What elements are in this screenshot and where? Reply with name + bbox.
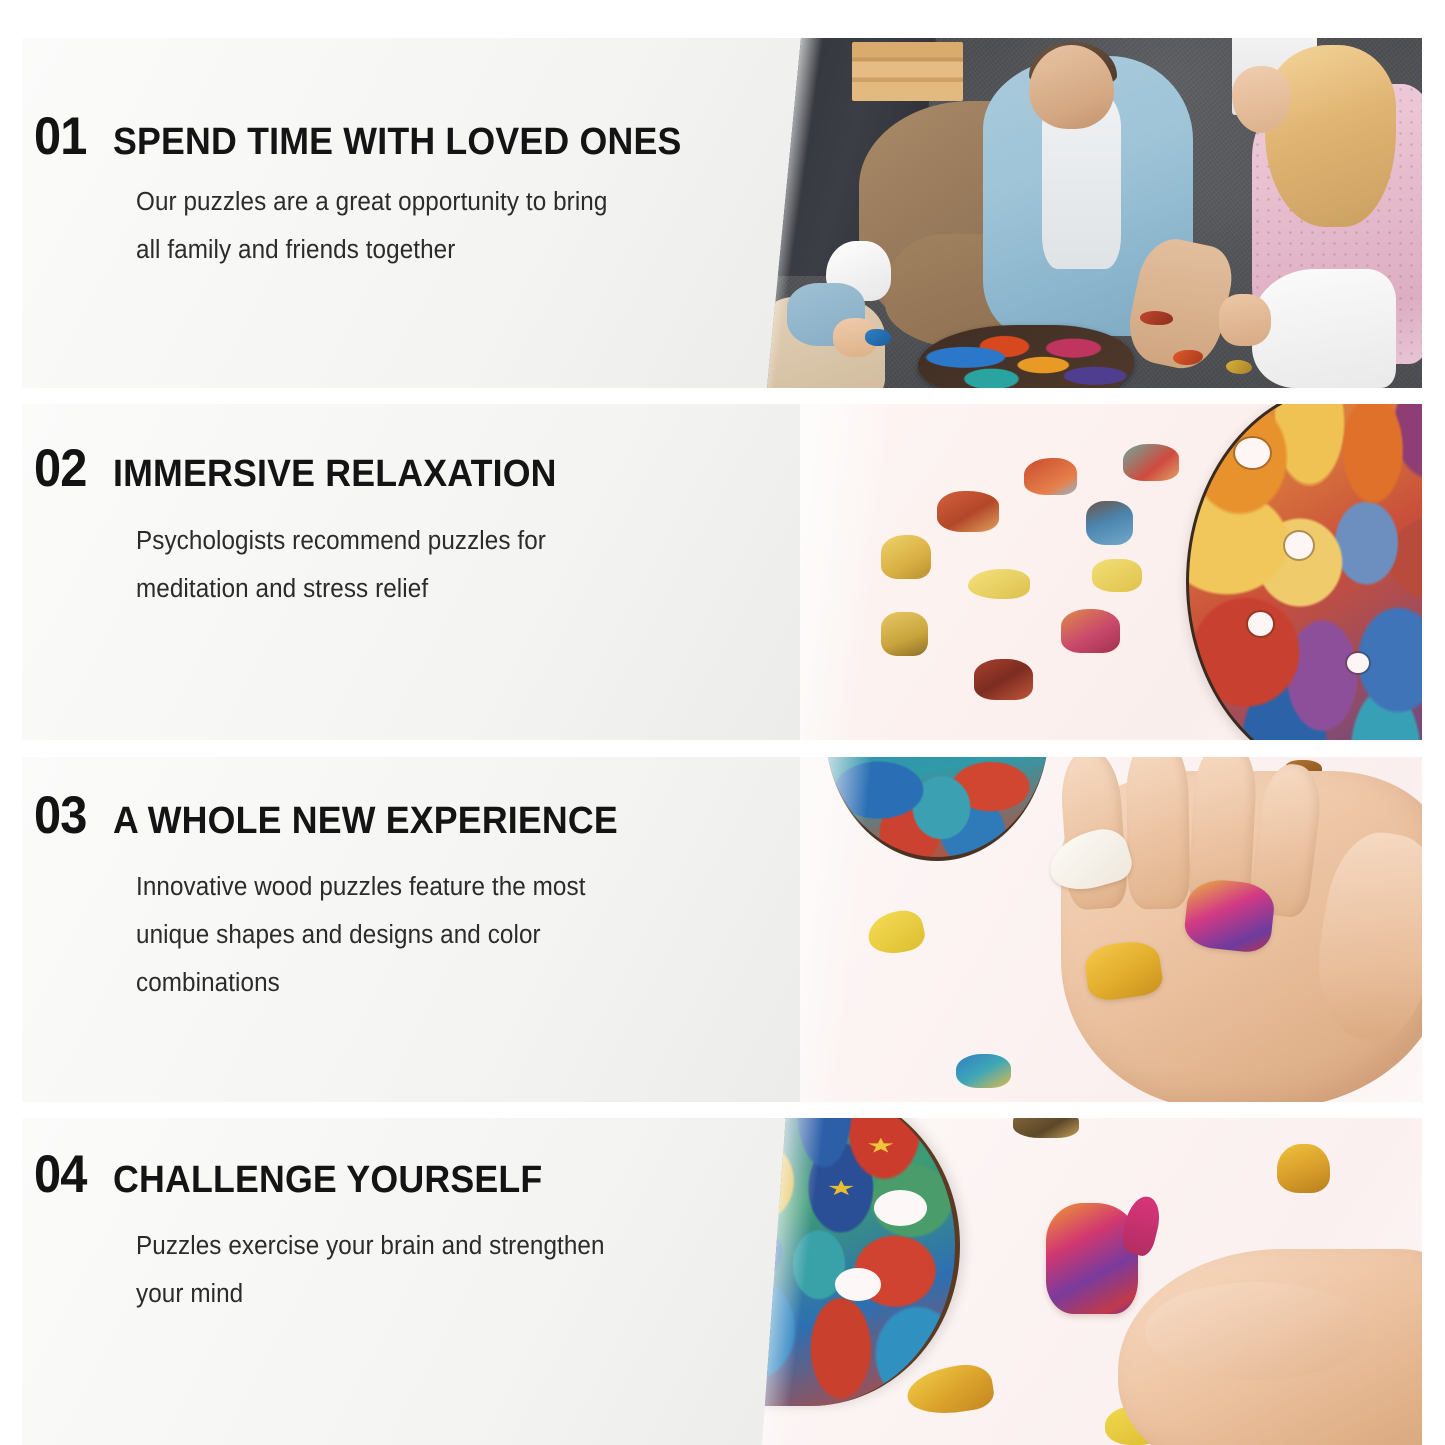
benefit-card-04: 04 CHALLENGE YOURSELF Puzzles exercise y…: [22, 1118, 1422, 1445]
benefit-body-line: all family and friends together: [136, 226, 744, 274]
benefit-heading-row-02: 02 IMMERSIVE RELAXATION: [34, 442, 585, 495]
benefit-card-01: 01 SPEND TIME WITH LOVED ONES Our puzzle…: [22, 38, 1422, 388]
benefit-body-line: Psychologists recommend puzzles for: [136, 517, 744, 565]
benefit-text-01: 01 SPEND TIME WITH LOVED ONES Our puzzle…: [22, 38, 812, 388]
benefit-photo-04: [762, 1118, 1422, 1445]
photo-scene-scattered-pieces: [800, 404, 1422, 740]
benefit-photo-01: [767, 38, 1422, 388]
photo-scene-palm-pieces: [800, 757, 1422, 1102]
benefit-text-04: 04 CHALLENGE YOURSELF Puzzles exercise y…: [22, 1118, 812, 1445]
benefit-text-02: 02 IMMERSIVE RELAXATION Psychologists re…: [22, 404, 812, 740]
benefit-body-line: Puzzles exercise your brain and strength…: [136, 1222, 744, 1270]
benefits-infographic: 01 SPEND TIME WITH LOVED ONES Our puzzle…: [0, 0, 1445, 1445]
benefit-body-line: unique shapes and designs and color: [136, 911, 744, 959]
benefit-number-03: 03: [34, 789, 86, 842]
benefit-body-03: Innovative wood puzzles feature the most…: [136, 863, 744, 1007]
benefit-heading-row-01: 01 SPEND TIME WITH LOVED ONES: [34, 110, 718, 163]
benefit-body-04: Puzzles exercise your brain and strength…: [136, 1222, 744, 1318]
benefit-heading-row-03: 03 A WHOLE NEW EXPERIENCE: [34, 789, 650, 842]
benefit-title-04: CHALLENGE YOURSELF: [113, 1161, 542, 1199]
benefit-text-03: 03 A WHOLE NEW EXPERIENCE Innovative woo…: [22, 757, 812, 1102]
benefit-title-02: IMMERSIVE RELAXATION: [113, 455, 557, 493]
benefit-body-line: your mind: [136, 1270, 744, 1318]
benefit-card-03: 03 A WHOLE NEW EXPERIENCE Innovative woo…: [22, 757, 1422, 1102]
benefit-card-02: 02 IMMERSIVE RELAXATION Psychologists re…: [22, 404, 1422, 740]
photo-scene-finger-cat-piece: [762, 1118, 1422, 1445]
benefit-body-01: Our puzzles are a great opportunity to b…: [136, 178, 744, 274]
benefit-title-03: A WHOLE NEW EXPERIENCE: [113, 802, 618, 840]
benefit-title-01: SPEND TIME WITH LOVED ONES: [113, 123, 682, 161]
benefit-number-02: 02: [34, 442, 86, 495]
benefit-photo-02: [800, 404, 1422, 740]
benefit-body-line: meditation and stress relief: [136, 565, 744, 613]
benefit-body-line: Our puzzles are a great opportunity to b…: [136, 178, 744, 226]
benefit-body-line: combinations: [136, 959, 744, 1007]
benefit-body-line: Innovative wood puzzles feature the most: [136, 863, 744, 911]
benefit-photo-03: [800, 757, 1422, 1102]
benefit-body-02: Psychologists recommend puzzles for medi…: [136, 517, 744, 613]
photo-scene-family: [767, 38, 1422, 388]
benefit-heading-row-04: 04 CHALLENGE YOURSELF: [34, 1148, 570, 1201]
benefit-number-04: 04: [34, 1148, 86, 1201]
benefit-number-01: 01: [34, 110, 86, 163]
